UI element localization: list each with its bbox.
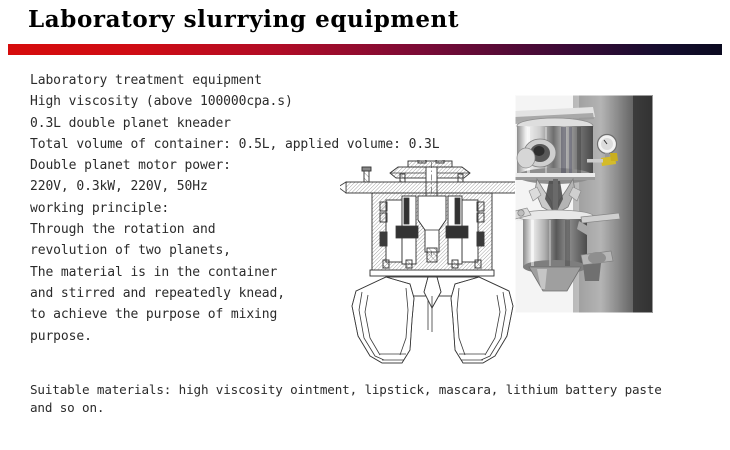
- suitable-materials-note: Suitable materials: high viscosity ointm…: [30, 381, 700, 417]
- spec-line: Through the rotation and: [30, 219, 350, 240]
- spec-line: and stirred and repeatedly knead,: [30, 283, 350, 304]
- spec-line: Laboratory treatment equipment: [30, 70, 350, 91]
- double-planet-kneader-cad-drawing: [340, 160, 525, 365]
- spec-line: The material is in the container: [30, 262, 350, 283]
- spec-line: Double planet motor power:: [30, 155, 350, 176]
- spec-line: High viscosity (above 100000cpa.s): [30, 91, 350, 112]
- spec-line: 220V, 0.3kW, 220V, 50Hz: [30, 176, 350, 197]
- spec-line: purpose.: [30, 326, 350, 347]
- spec-line: working principle:: [30, 198, 350, 219]
- spec-line: revolution of two planets,: [30, 240, 350, 261]
- note-line: Suitable materials: high viscosity ointm…: [30, 381, 700, 399]
- slide-page: Laboratory slurrying equipment Laborator…: [0, 0, 730, 450]
- specification-text-block: Laboratory treatment equipment High visc…: [30, 70, 350, 347]
- gradient-rule: [8, 44, 722, 55]
- spec-line: to achieve the purpose of mixing: [30, 304, 350, 325]
- page-title: Laboratory slurrying equipment: [28, 4, 459, 36]
- planetary-mixer-photograph: [515, 95, 653, 313]
- spec-line: 0.3L double planet kneader: [30, 113, 350, 134]
- note-line: and so on.: [30, 399, 700, 417]
- spec-line: Total volume of container: 0.5L, applied…: [30, 134, 350, 155]
